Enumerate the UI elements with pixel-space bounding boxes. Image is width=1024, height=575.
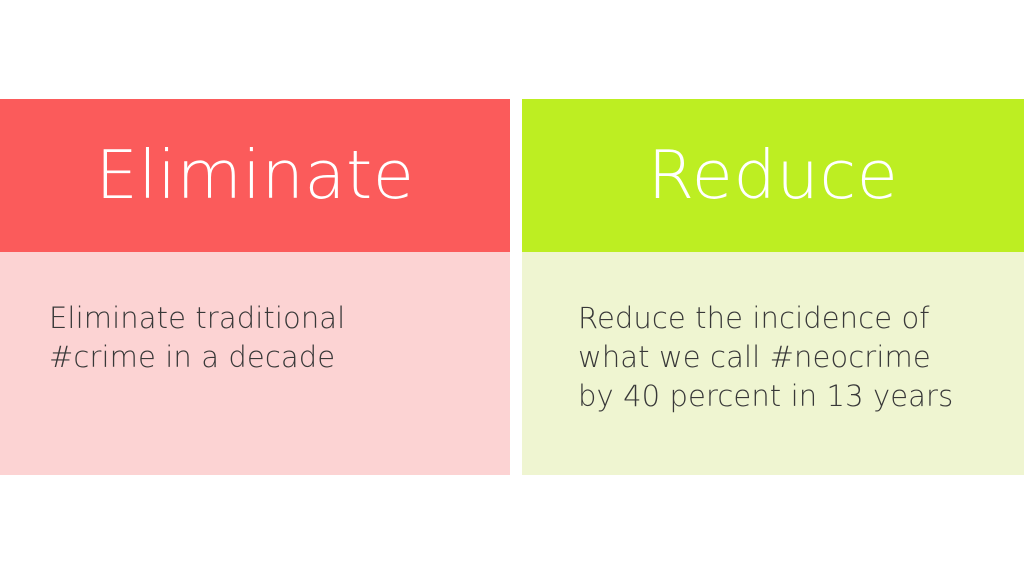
goal-card-eliminate-header: Eliminate [0, 99, 510, 252]
goal-cards-row: Eliminate Eliminate traditional #crime i… [0, 99, 1024, 475]
slide-canvas: Eliminate Eliminate traditional #crime i… [0, 0, 1024, 575]
goal-card-reduce-line-1: Reduce the incidence of [578, 299, 1010, 338]
goal-card-eliminate-line-2: #crime in a decade [49, 338, 490, 377]
card-divider-gap [510, 99, 522, 475]
goal-card-reduce-title: Reduce [648, 142, 899, 209]
goal-card-reduce-line-2: what we call #neocrime [578, 338, 1010, 377]
goal-card-eliminate-line-1: Eliminate traditional [49, 299, 490, 338]
goal-card-reduce-header: Reduce [522, 99, 1024, 252]
goal-card-eliminate[interactable]: Eliminate Eliminate traditional #crime i… [0, 99, 510, 475]
goal-card-eliminate-title: Eliminate [96, 142, 415, 209]
goal-card-reduce-line-3: by 40 percent in 13 years [578, 377, 1010, 416]
goal-card-eliminate-body: Eliminate traditional #crime in a decade [0, 252, 510, 475]
goal-card-reduce[interactable]: Reduce Reduce the incidence of what we c… [522, 99, 1024, 475]
goal-card-reduce-body: Reduce the incidence of what we call #ne… [522, 252, 1024, 475]
